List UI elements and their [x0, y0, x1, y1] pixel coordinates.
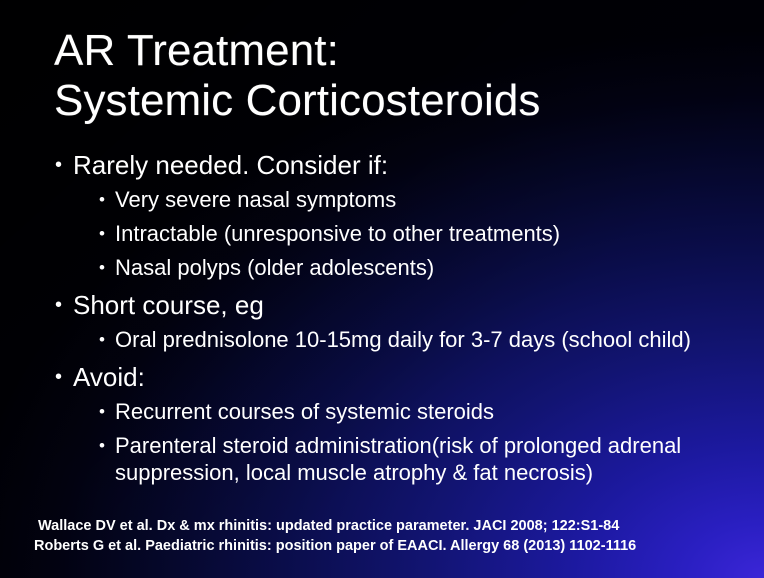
bullet-dot-icon: •	[99, 186, 105, 213]
bullet-dot-icon: •	[55, 362, 62, 392]
presentation-slide: AR Treatment: Systemic Corticosteroids •…	[0, 0, 764, 578]
bullet-level2: • Intractable (unresponsive to other tre…	[0, 220, 764, 247]
bullet-level2-text: Intractable (unresponsive to other treat…	[115, 220, 764, 247]
bullet-level2-text: Parenteral steroid administration(risk o…	[115, 432, 764, 486]
bullet-level2: • Recurrent courses of systemic steroids	[0, 398, 764, 425]
citation-list: Wallace DV et al. Dx & mx rhinitis: upda…	[0, 516, 764, 556]
bullet-level2: • Oral prednisolone 10-15mg daily for 3-…	[0, 326, 764, 353]
bullet-level2: • Very severe nasal symptoms	[0, 186, 764, 213]
bullet-dot-icon: •	[99, 254, 105, 281]
citation-line: Roberts G et al. Paediatric rhinitis: po…	[0, 536, 764, 556]
bullet-level2-text: Nasal polyps (older adolescents)	[115, 254, 764, 281]
bullet-level2: • Nasal polyps (older adolescents)	[0, 254, 764, 281]
bullet-dot-icon: •	[55, 290, 62, 320]
bullet-dot-icon: •	[55, 150, 62, 180]
bullet-level2-text: Recurrent courses of systemic steroids	[115, 398, 764, 425]
slide-body: • Rarely needed. Consider if: • Very sev…	[0, 150, 764, 493]
slide-content: AR Treatment: Systemic Corticosteroids •…	[0, 0, 764, 578]
bullet-dot-icon: •	[99, 432, 105, 459]
bullet-level2: • Parenteral steroid administration(risk…	[0, 432, 764, 486]
bullet-level2-text: Oral prednisolone 10-15mg daily for 3-7 …	[115, 326, 764, 353]
bullet-level1: • Avoid:	[0, 362, 764, 392]
bullet-group: • Short course, eg • Oral prednisolone 1…	[0, 290, 764, 353]
bullet-level1-text: Short course, eg	[73, 290, 764, 320]
bullet-level1: • Short course, eg	[0, 290, 764, 320]
bullet-dot-icon: •	[99, 326, 105, 353]
bullet-group: • Avoid: • Recurrent courses of systemic…	[0, 362, 764, 486]
bullet-level1-text: Avoid:	[73, 362, 764, 392]
slide-title: AR Treatment: Systemic Corticosteroids	[54, 26, 541, 126]
bullet-level1: • Rarely needed. Consider if:	[0, 150, 764, 180]
citation-line: Wallace DV et al. Dx & mx rhinitis: upda…	[0, 516, 764, 536]
bullet-level2-text: Very severe nasal symptoms	[115, 186, 764, 213]
bullet-dot-icon: •	[99, 220, 105, 247]
bullet-group: • Rarely needed. Consider if: • Very sev…	[0, 150, 764, 281]
bullet-level1-text: Rarely needed. Consider if:	[73, 150, 764, 180]
bullet-dot-icon: •	[99, 398, 105, 425]
